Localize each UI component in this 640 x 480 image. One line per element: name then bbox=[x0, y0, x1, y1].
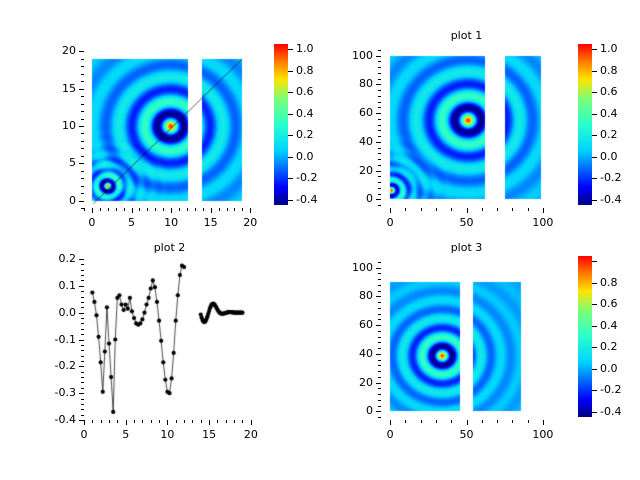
plot-top-right-cbar-tick bbox=[592, 135, 597, 136]
plot-bottom-right-xticklabel: 100 bbox=[518, 429, 568, 440]
plot-top-right-ytick-minor bbox=[378, 50, 381, 51]
plot-top-right-xtick bbox=[467, 208, 468, 213]
plot-top-right-yticklabel: 0 bbox=[321, 193, 373, 204]
plot-bottom-left-ytick bbox=[79, 420, 84, 421]
plot-bottom-right-xticklabel: 0 bbox=[365, 429, 415, 440]
plot-bottom-right-ytick bbox=[376, 354, 381, 355]
plot-top-left-cbar-tick bbox=[288, 200, 293, 201]
plot-top-left-xtick-minor bbox=[116, 208, 117, 211]
plot-bottom-right-cbar-tick bbox=[592, 283, 597, 284]
plot-bottom-left-xtick-minor bbox=[109, 420, 110, 423]
plot-top-left-cbar-tick bbox=[288, 49, 293, 50]
plot-top-right-xtick-minor bbox=[497, 208, 498, 211]
plot-bottom-left-xtick-minor bbox=[134, 420, 135, 423]
plot-top-left-cbar-label: 0.8 bbox=[296, 65, 314, 76]
plot-bottom-left-ytick-minor bbox=[81, 334, 84, 335]
plot-top-right-ytick-minor bbox=[378, 153, 381, 154]
plot-top-left-ytick-minor bbox=[81, 66, 84, 67]
plot-bottom-left-xtick-minor bbox=[117, 420, 118, 423]
plot-top-right-cbar-label: 0.2 bbox=[600, 129, 618, 140]
plot-top-right-xtick-minor bbox=[451, 208, 452, 211]
plot-top-right-ytick-minor bbox=[378, 165, 381, 166]
plot-top-left-cbar-tick bbox=[288, 135, 293, 136]
plot-bottom-right-xtick-minor bbox=[421, 420, 422, 423]
plot-top-left-xticklabel: 20 bbox=[225, 217, 275, 228]
plot-bottom-right-data-canvas bbox=[381, 259, 552, 420]
plot-top-right-cbar-tick bbox=[592, 178, 597, 179]
plot-bottom-right-colorbar bbox=[578, 256, 592, 417]
plot-top-left-cbar-label: 0.0 bbox=[296, 151, 314, 162]
plot-top-left-xtick bbox=[171, 208, 172, 213]
plot-top-left-ytick-minor bbox=[81, 178, 84, 179]
plot-top-left-xtick-minor bbox=[163, 208, 164, 211]
plot-top-left-cbar-label: -0.2 bbox=[296, 172, 317, 183]
plot-top-left-xtick bbox=[250, 208, 251, 213]
plot-bottom-right-ytick-minor bbox=[378, 302, 381, 303]
figure-canvas: 0510152005101520-0.4-0.20.00.20.40.60.81… bbox=[0, 0, 640, 480]
plot-bottom-left-xtick-minor bbox=[151, 420, 152, 423]
plot-top-right-xtick-minor bbox=[528, 208, 529, 211]
plot-top-left-ytick-minor bbox=[81, 119, 84, 120]
plot-bottom-right-yticklabel: 60 bbox=[321, 319, 373, 330]
plot-top-left-xtick-minor bbox=[84, 208, 85, 211]
plot-bottom-right-cbar-label: 0.6 bbox=[600, 298, 618, 309]
plot-top-right-ytick-minor bbox=[378, 194, 381, 195]
plot-bottom-right-ytick-minor bbox=[378, 273, 381, 274]
plot-bottom-left-ytick bbox=[79, 313, 84, 314]
plot-top-right-ytick-minor bbox=[378, 73, 381, 74]
plot-top-left-cbar-label: 0.2 bbox=[296, 129, 314, 140]
plot-bottom-left-ytick-minor bbox=[81, 377, 84, 378]
plot-top-left-ytick bbox=[79, 126, 84, 127]
plot-bottom-right-xtick-minor bbox=[451, 420, 452, 423]
plot-top-left-xtick-minor bbox=[195, 208, 196, 211]
plot-top-left-ytick-minor bbox=[81, 148, 84, 149]
plot-bottom-right-xtick-minor bbox=[436, 420, 437, 423]
plot-top-right-cbar-tick bbox=[592, 114, 597, 115]
plot-top-left-yticklabel: 15 bbox=[24, 83, 76, 94]
plot-bottom-right-xtick bbox=[543, 420, 544, 425]
plot-top-right-yticklabel: 60 bbox=[321, 107, 373, 118]
plot-top-right-cbar-label: 0.6 bbox=[600, 86, 618, 97]
plot-bottom-right-ytick-minor bbox=[378, 331, 381, 332]
plot-top-left-xtick-minor bbox=[147, 208, 148, 211]
plot-bottom-left-ytick-minor bbox=[81, 307, 84, 308]
plot-bottom-right-ytick-minor bbox=[378, 360, 381, 361]
plot-bottom-left-ytick-minor bbox=[81, 291, 84, 292]
plot-top-left-yticklabel: 20 bbox=[24, 45, 76, 56]
plot-bottom-right-yticklabel: 0 bbox=[321, 405, 373, 416]
plot-bottom-left-ytick-minor bbox=[81, 356, 84, 357]
plot-top-left-cbar-tick bbox=[288, 71, 293, 72]
plot-top-left-cbar-label: 0.4 bbox=[296, 108, 314, 119]
plot-bottom-right-cbar-label: 0.8 bbox=[600, 277, 618, 288]
plot-bottom-left-ytick-minor bbox=[81, 415, 84, 416]
plot-top-right-xtick-minor bbox=[436, 208, 437, 211]
plot-bottom-right-ytick-minor bbox=[378, 342, 381, 343]
plot-bottom-left-ytick bbox=[79, 340, 84, 341]
plot-bottom-right-cbar-tick bbox=[592, 304, 597, 305]
plot-top-right-cbar-tick bbox=[592, 157, 597, 158]
plot-bottom-right-cbar-tick bbox=[592, 347, 597, 348]
plot-top-left-ytick-minor bbox=[81, 156, 84, 157]
plot-top-left-ytick-minor bbox=[81, 186, 84, 187]
plot-bottom-left-ytick bbox=[79, 286, 84, 287]
plot-bottom-right-ytick-minor bbox=[378, 319, 381, 320]
plot-top-left-ytick bbox=[79, 51, 84, 52]
plot-top-right-cbar-label: 0.8 bbox=[600, 65, 618, 76]
plot-bottom-right-xticklabel: 50 bbox=[442, 429, 492, 440]
plot-bottom-right-xtick-minor bbox=[497, 420, 498, 423]
plot-bottom-left-xtick bbox=[167, 420, 168, 425]
plot-top-left-xtick-minor bbox=[234, 208, 235, 211]
plot-bottom-left-yticklabel: 0.2 bbox=[24, 253, 76, 264]
plot-bottom-right-ytick-minor bbox=[378, 388, 381, 389]
plot-bottom-left-ytick-minor bbox=[81, 350, 84, 351]
plot-bottom-left-yticklabel: -0.1 bbox=[24, 334, 76, 345]
plot-top-right-ytick-minor bbox=[378, 90, 381, 91]
plot-bottom-left-ytick bbox=[79, 259, 84, 260]
plot-top-right-ytick-minor bbox=[378, 125, 381, 126]
plot-bottom-right-xtick-minor bbox=[512, 420, 513, 423]
plot-top-left-cbar-label: 1.0 bbox=[296, 43, 314, 54]
plot-bottom-left-xtick-minor bbox=[176, 420, 177, 423]
plot-top-right-ytick-minor bbox=[378, 159, 381, 160]
plot-top-right-cbar-tick bbox=[592, 200, 597, 201]
plot-top-left-ytick-minor bbox=[81, 193, 84, 194]
plot-bottom-right-ytick-minor bbox=[378, 400, 381, 401]
plot-top-left-xtick-minor bbox=[179, 208, 180, 211]
plot-bottom-left-ytick-minor bbox=[81, 280, 84, 281]
plot-top-right-ytick bbox=[376, 84, 381, 85]
plot-top-left-colorbar-gradient bbox=[274, 44, 288, 205]
plot-top-right-cbar-label: 0.0 bbox=[600, 151, 618, 162]
plot-top-right-xtick-minor bbox=[405, 208, 406, 211]
plot-bottom-left-xtick-minor bbox=[201, 420, 202, 423]
plot-bottom-left-yticklabel: -0.4 bbox=[24, 414, 76, 425]
plot-bottom-left-xtick-minor bbox=[242, 420, 243, 423]
plot-top-right-colorbar-gradient bbox=[578, 44, 592, 205]
plot-bottom-left-xtick-minor bbox=[234, 420, 235, 423]
plot-top-left-yticklabel: 0 bbox=[24, 195, 76, 206]
plot-bottom-left-data-canvas bbox=[84, 259, 255, 420]
plot-top-left-xtick-minor bbox=[187, 208, 188, 211]
plot-bottom-left-ytick-minor bbox=[81, 382, 84, 383]
plot-bottom-right-ytick-minor bbox=[378, 417, 381, 418]
plot-top-right-xtick-minor bbox=[482, 208, 483, 211]
plot-bottom-right-ytick-minor bbox=[378, 377, 381, 378]
plot-top-left-ytick-minor bbox=[81, 59, 84, 60]
plot-top-right-ytick-minor bbox=[378, 61, 381, 62]
plot-top-left-yticklabel: 5 bbox=[24, 157, 76, 168]
plot-top-right-xtick bbox=[543, 208, 544, 213]
plot-bottom-right-ytick-minor bbox=[378, 262, 381, 263]
plot-top-left-cbar-tick bbox=[288, 92, 293, 93]
plot-top-right-xtick bbox=[390, 208, 391, 213]
plot-bottom-left-ytick-minor bbox=[81, 275, 84, 276]
plot-top-right-xtick-minor bbox=[512, 208, 513, 211]
plot-top-left-xtick bbox=[132, 208, 133, 213]
plot-top-left-data-canvas bbox=[84, 47, 255, 208]
plot-bottom-left-ytick-minor bbox=[81, 399, 84, 400]
plot-top-left-cbar-tick bbox=[288, 178, 293, 179]
plot-top-right-ytick-minor bbox=[378, 136, 381, 137]
plot-bottom-right-yticklabel: 20 bbox=[321, 377, 373, 388]
plot-top-left-ytick-minor bbox=[81, 81, 84, 82]
plot-bottom-left-xtick-minor bbox=[101, 420, 102, 423]
plot-top-left-ytick-minor bbox=[81, 171, 84, 172]
plot-bottom-right-ytick-minor bbox=[378, 314, 381, 315]
plot-bottom-left-ytick-minor bbox=[81, 345, 84, 346]
plot-bottom-right-xtick bbox=[467, 420, 468, 425]
plot-bottom-right-cbar-tick bbox=[592, 369, 597, 370]
plot-bottom-right-cbar-label: -0.4 bbox=[600, 406, 621, 417]
plot-bottom-left-xtick-minor bbox=[192, 420, 193, 423]
plot-bottom-right-yticklabel: 40 bbox=[321, 348, 373, 359]
plot-top-right-xticklabel: 50 bbox=[442, 217, 492, 228]
plot-top-left-ytick bbox=[79, 201, 84, 202]
plot-bottom-left-ytick-minor bbox=[81, 318, 84, 319]
plot-top-left-xtick-minor bbox=[227, 208, 228, 211]
plot-bottom-left-yticklabel: 0.1 bbox=[24, 280, 76, 291]
plot-top-right-ytick bbox=[376, 199, 381, 200]
plot-top-right-ytick-minor bbox=[378, 182, 381, 183]
plot-bottom-left-xtick-minor bbox=[142, 420, 143, 423]
plot-top-left-yticklabel: 10 bbox=[24, 120, 76, 131]
plot-bottom-left-yticklabel: -0.3 bbox=[24, 387, 76, 398]
plot-bottom-left-ytick-minor bbox=[81, 297, 84, 298]
plot-top-right-yticklabel: 100 bbox=[321, 50, 373, 61]
plot-bottom-right-xtick-minor bbox=[528, 420, 529, 423]
plot-top-right-ytick-minor bbox=[378, 67, 381, 68]
plot-top-right-ytick-minor bbox=[378, 96, 381, 97]
plot-top-right-cbar-label: 0.4 bbox=[600, 108, 618, 119]
plot-bottom-left-xtick bbox=[126, 420, 127, 425]
plot-top-right-cbar-label: 1.0 bbox=[600, 43, 618, 54]
plot-bottom-right-yticklabel: 100 bbox=[321, 262, 373, 273]
plot-top-right-cbar-label: -0.4 bbox=[600, 194, 621, 205]
plot-bottom-right-yticklabel: 80 bbox=[321, 290, 373, 301]
plot-top-left-ytick-minor bbox=[81, 111, 84, 112]
plot-bottom-left-xtick bbox=[251, 420, 252, 425]
plot-bottom-left-ytick-minor bbox=[81, 323, 84, 324]
plot-bottom-left-yticklabel: -0.2 bbox=[24, 360, 76, 371]
plot-bottom-left-ytick-minor bbox=[81, 409, 84, 410]
plot-bottom-left-ytick bbox=[79, 366, 84, 367]
plot-top-left-ytick bbox=[79, 163, 84, 164]
plot-bottom-right-cbar-label: 0.4 bbox=[600, 320, 618, 331]
plot-top-left-xtick-minor bbox=[203, 208, 204, 211]
plot-top-right-cbar-tick bbox=[592, 71, 597, 72]
plot-bottom-left-xticklabel: 20 bbox=[226, 429, 276, 440]
plot-top-right-ytick-minor bbox=[378, 188, 381, 189]
plot-top-right-ytick-minor bbox=[378, 102, 381, 103]
plot-top-right-ytick-minor bbox=[378, 130, 381, 131]
plot-top-left-cbar-tick bbox=[288, 114, 293, 115]
plot-bottom-right-cbar-tick bbox=[592, 412, 597, 413]
plot-top-left-cbar-label: -0.4 bbox=[296, 194, 317, 205]
plot-bottom-right-ytick-minor bbox=[378, 291, 381, 292]
plot-top-left-xtick bbox=[211, 208, 212, 213]
plot-bottom-right-xtick-minor bbox=[405, 420, 406, 423]
plot-top-left-xtick-minor bbox=[242, 208, 243, 211]
plot-top-left-xtick-minor bbox=[124, 208, 125, 211]
plot-top-right-ytick bbox=[376, 56, 381, 57]
plot-top-right-xticklabel: 100 bbox=[518, 217, 568, 228]
plot-bottom-left-xtick bbox=[84, 420, 85, 425]
plot-top-right-ytick-minor bbox=[378, 148, 381, 149]
plot-bottom-right-ytick bbox=[376, 383, 381, 384]
plot-top-right-cbar-label: -0.2 bbox=[600, 172, 621, 183]
plot-top-left-ytick-minor bbox=[81, 141, 84, 142]
plot-bottom-right-cbar-tick bbox=[592, 261, 597, 262]
plot-top-right-data-canvas bbox=[381, 47, 552, 208]
plot-bottom-left-xtick bbox=[209, 420, 210, 425]
plot-bottom-left-xtick-minor bbox=[217, 420, 218, 423]
plot-top-left-xtick-minor bbox=[100, 208, 101, 211]
plot-bottom-left-ytick-minor bbox=[81, 270, 84, 271]
plot-bottom-right-colorbar-gradient bbox=[578, 256, 592, 417]
plot-bottom-right-cbar-tick bbox=[592, 326, 597, 327]
plot-top-left-ytick-minor bbox=[81, 74, 84, 75]
plot-top-left-xtick bbox=[92, 208, 93, 213]
plot-bottom-right-ytick-minor bbox=[378, 285, 381, 286]
plot-bottom-right-title: plot 3 bbox=[381, 242, 552, 254]
plot-top-right-yticklabel: 80 bbox=[321, 78, 373, 89]
plot-top-left-ytick-minor bbox=[81, 208, 84, 209]
plot-bottom-right-ytick-minor bbox=[378, 308, 381, 309]
plot-bottom-left-title: plot 2 bbox=[84, 242, 255, 254]
plot-bottom-left-ytick-minor bbox=[81, 329, 84, 330]
plot-top-right-ytick-minor bbox=[378, 79, 381, 80]
plot-top-left-xtick-minor bbox=[139, 208, 140, 211]
plot-top-left-xtick-minor bbox=[155, 208, 156, 211]
plot-bottom-left-xtick-minor bbox=[159, 420, 160, 423]
plot-top-right-title: plot 1 bbox=[381, 30, 552, 42]
plot-bottom-left-xtick-minor bbox=[92, 420, 93, 423]
plot-top-left-xtick-minor bbox=[108, 208, 109, 211]
plot-top-right-ytick-minor bbox=[378, 205, 381, 206]
plot-bottom-right-cbar-label: 0.0 bbox=[600, 363, 618, 374]
plot-bottom-right-ytick-minor bbox=[378, 406, 381, 407]
plot-top-right-colorbar bbox=[578, 44, 592, 205]
plot-bottom-left-xtick-minor bbox=[226, 420, 227, 423]
plot-top-right-xticklabel: 0 bbox=[365, 217, 415, 228]
plot-bottom-right-ytick bbox=[376, 296, 381, 297]
plot-bottom-right-ytick-minor bbox=[378, 365, 381, 366]
plot-top-right-cbar-tick bbox=[592, 49, 597, 50]
plot-top-right-ytick bbox=[376, 171, 381, 172]
plot-top-right-ytick-minor bbox=[378, 107, 381, 108]
plot-top-right-ytick-minor bbox=[378, 176, 381, 177]
plot-bottom-left-ytick-minor bbox=[81, 264, 84, 265]
plot-top-right-ytick bbox=[376, 142, 381, 143]
plot-bottom-right-cbar-label: 0.2 bbox=[600, 341, 618, 352]
plot-top-right-cbar-tick bbox=[592, 92, 597, 93]
plot-top-left-cbar-tick bbox=[288, 157, 293, 158]
plot-bottom-right-ytick bbox=[376, 325, 381, 326]
plot-bottom-left-ytick-minor bbox=[81, 372, 84, 373]
plot-top-left-ytick-minor bbox=[81, 133, 84, 134]
plot-bottom-right-xtick bbox=[390, 420, 391, 425]
plot-bottom-right-ytick-minor bbox=[378, 394, 381, 395]
plot-bottom-right-cbar-tick bbox=[592, 390, 597, 391]
plot-bottom-left-xtick-minor bbox=[184, 420, 185, 423]
plot-top-left-ytick-minor bbox=[81, 96, 84, 97]
plot-top-left-ytick-minor bbox=[81, 104, 84, 105]
plot-bottom-left-yticklabel: 0.0 bbox=[24, 307, 76, 318]
plot-bottom-right-ytick-minor bbox=[378, 371, 381, 372]
plot-bottom-right-ytick-minor bbox=[378, 337, 381, 338]
plot-bottom-left-ytick bbox=[79, 393, 84, 394]
plot-bottom-right-ytick bbox=[376, 268, 381, 269]
plot-bottom-right-ytick bbox=[376, 411, 381, 412]
plot-top-right-yticklabel: 20 bbox=[321, 165, 373, 176]
plot-top-left-ytick bbox=[79, 89, 84, 90]
plot-bottom-right-cbar-label: -0.2 bbox=[600, 384, 621, 395]
plot-top-right-ytick bbox=[376, 113, 381, 114]
plot-bottom-left-ytick-minor bbox=[81, 404, 84, 405]
plot-top-right-ytick-minor bbox=[378, 119, 381, 120]
plot-bottom-right-ytick-minor bbox=[378, 279, 381, 280]
plot-bottom-right-ytick-minor bbox=[378, 348, 381, 349]
plot-top-left-xtick-minor bbox=[219, 208, 220, 211]
plot-bottom-left-ytick-minor bbox=[81, 302, 84, 303]
plot-bottom-left-ytick-minor bbox=[81, 388, 84, 389]
plot-top-left-cbar-label: 0.6 bbox=[296, 86, 314, 97]
plot-top-left-colorbar bbox=[274, 44, 288, 205]
plot-bottom-right-xtick-minor bbox=[482, 420, 483, 423]
plot-top-right-yticklabel: 40 bbox=[321, 136, 373, 147]
plot-top-right-xtick-minor bbox=[421, 208, 422, 211]
plot-bottom-left-ytick-minor bbox=[81, 361, 84, 362]
